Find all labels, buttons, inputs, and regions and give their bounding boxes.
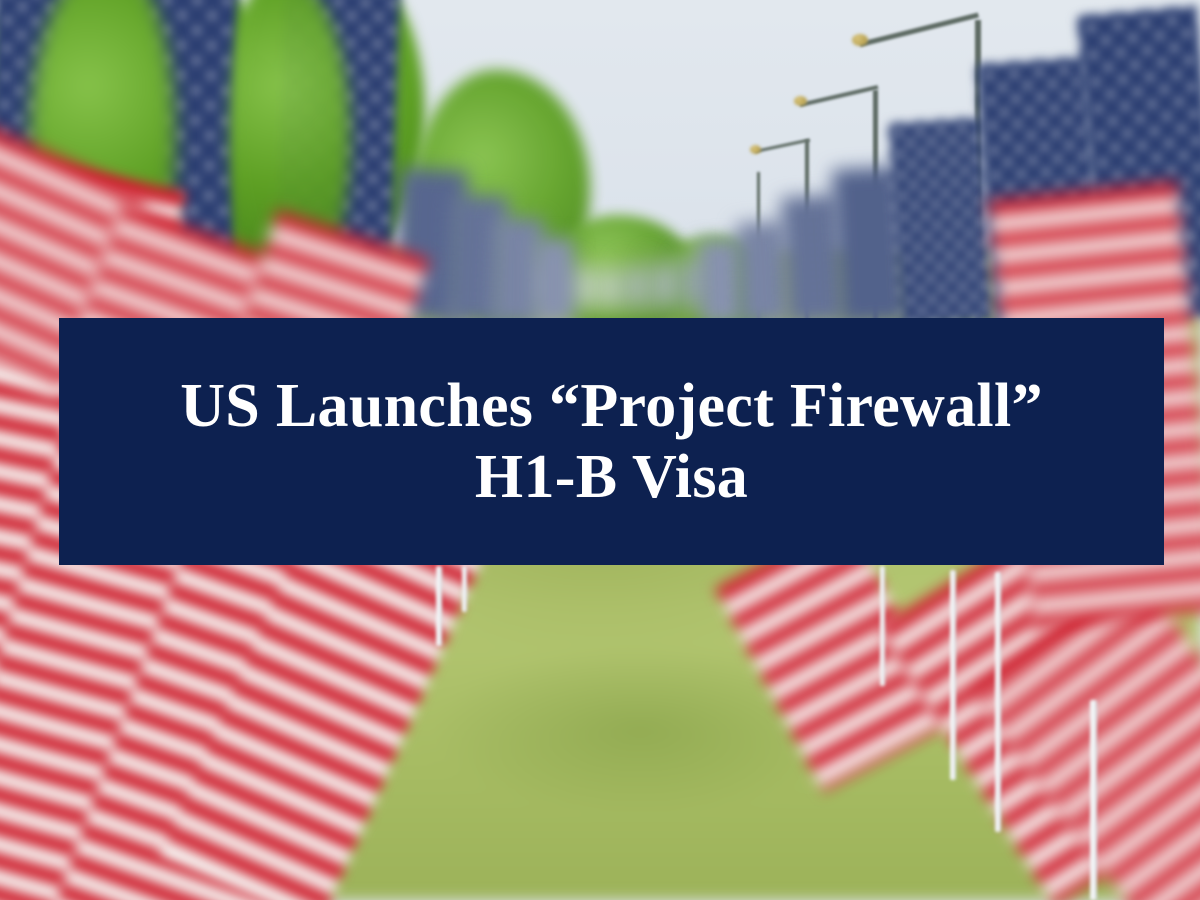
flagpole (880, 566, 885, 686)
lamp-head (794, 96, 807, 106)
title-banner: US Launches “Project Firewall” H1-B Visa (59, 318, 1164, 565)
flag-canton (888, 117, 994, 327)
distant-flag (652, 262, 678, 308)
banner-graphic: US Launches “Project Firewall” H1-B Visa (0, 0, 1200, 900)
flagpole (436, 566, 442, 646)
banner-title-line-1: US Launches “Project Firewall” (180, 374, 1043, 438)
banner-title-line-2: H1-B Visa (475, 445, 748, 509)
distant-flag (575, 268, 597, 308)
flag-canton (736, 221, 790, 325)
flagpole (1090, 700, 1097, 900)
lamp-head (852, 34, 868, 46)
flag-canton (534, 238, 574, 322)
distant-flag (625, 266, 649, 308)
distant-flag (600, 270, 622, 308)
flagpole (950, 570, 956, 780)
flagpole (995, 572, 1001, 832)
flagpole (462, 566, 467, 612)
lamp-head (750, 145, 761, 154)
